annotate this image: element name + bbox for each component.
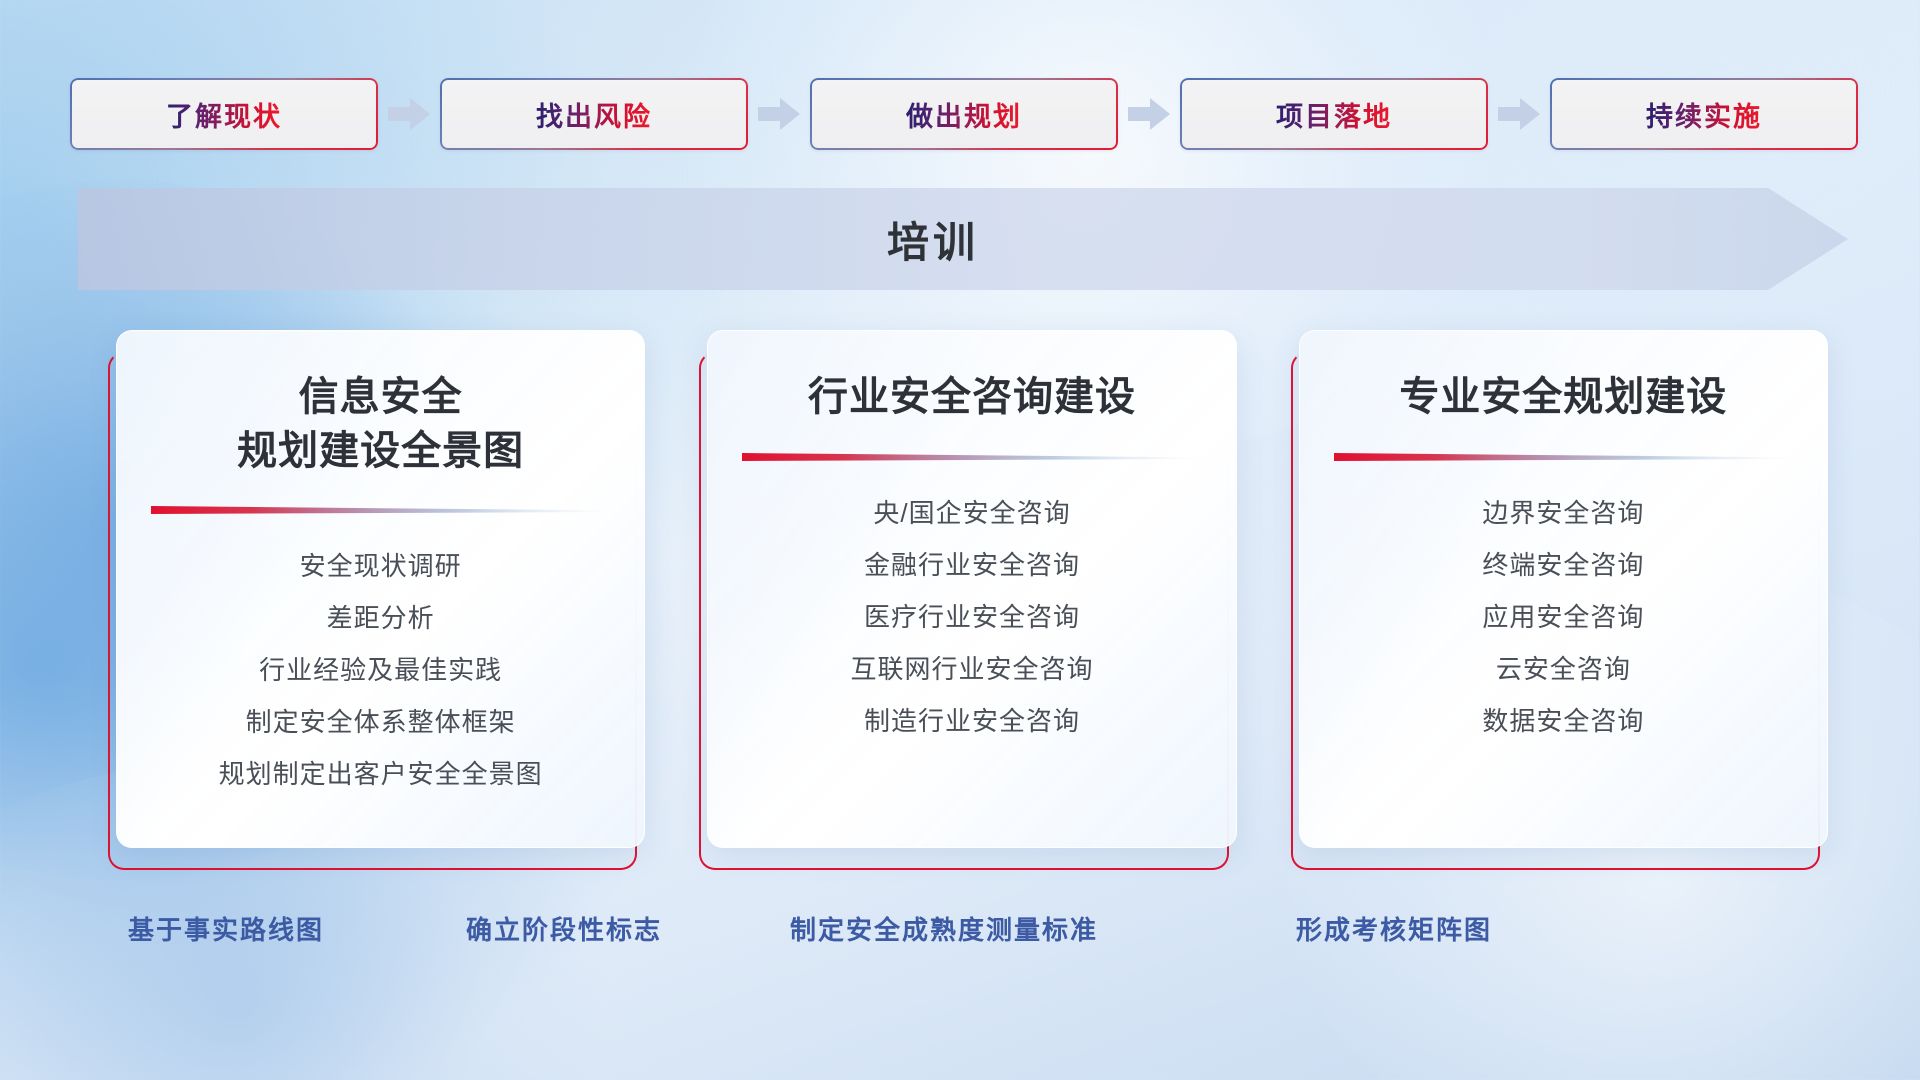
step-arrow-icon xyxy=(1118,78,1180,150)
card-title: 信息安全 规划建设全景图 xyxy=(237,371,524,478)
tapered-gradient-line xyxy=(151,504,610,518)
process-step-5[interactable]: 持续实施 xyxy=(1550,78,1858,150)
card-list-item: 医疗行业安全咨询 xyxy=(864,591,1080,643)
card-divider-rule xyxy=(151,504,610,518)
card-list-item: 制定安全体系整体框架 xyxy=(246,696,516,748)
card-list-item: 央/国企安全咨询 xyxy=(873,487,1070,539)
process-step-label: 找出风险 xyxy=(536,95,652,134)
card-list-item: 安全现状调研 xyxy=(300,540,462,592)
card-list-item: 制造行业安全咨询 xyxy=(864,695,1080,747)
card-panel[interactable]: 行业安全咨询建设央/国企安全咨询金融行业安全咨询医疗行业安全咨询互联网行业安全咨… xyxy=(707,330,1236,848)
process-step-1[interactable]: 了解现状 xyxy=(70,78,378,150)
card-list-item: 终端安全咨询 xyxy=(1482,539,1644,591)
tapered-gradient-line xyxy=(1334,451,1793,465)
card-1: 信息安全 规划建设全景图安全现状调研差距分析行业经验及最佳实践制定安全体系整体框… xyxy=(108,330,637,870)
process-step-label: 做出规划 xyxy=(906,95,1022,134)
card-title: 专业安全规划建设 xyxy=(1399,371,1727,425)
training-banner: 培训 xyxy=(78,188,1848,290)
chevron-right-arrow-icon xyxy=(758,97,800,131)
footer-label-2: 确立阶段性标志 xyxy=(466,910,662,947)
card-list-item: 金融行业安全咨询 xyxy=(864,539,1080,591)
card-divider-rule xyxy=(742,451,1201,465)
card-list-item: 应用安全咨询 xyxy=(1482,591,1644,643)
card-divider-rule xyxy=(1334,451,1793,465)
card-list-item: 规划制定出客户安全全景图 xyxy=(219,748,543,800)
card-panel[interactable]: 信息安全 规划建设全景图安全现状调研差距分析行业经验及最佳实践制定安全体系整体框… xyxy=(116,330,645,848)
footer-label-1: 基于事实路线图 xyxy=(128,910,324,947)
card-list-item: 数据安全咨询 xyxy=(1482,695,1644,747)
footer-label-3: 制定安全成熟度测量标准 xyxy=(790,910,1098,947)
process-step-flow: 了解现状找出风险做出规划项目落地持续实施 xyxy=(70,78,1858,150)
process-step-2[interactable]: 找出风险 xyxy=(440,78,748,150)
card-item-list: 边界安全咨询终端安全咨询应用安全咨询云安全咨询数据安全咨询 xyxy=(1334,487,1793,747)
chevron-right-arrow-icon xyxy=(388,97,430,131)
step-arrow-icon xyxy=(748,78,810,150)
card-list-item: 差距分析 xyxy=(327,592,435,644)
footer-label-row: 基于事实路线图确立阶段性标志制定安全成熟度测量标准形成考核矩阵图 xyxy=(0,910,1920,960)
chevron-right-arrow-icon xyxy=(1498,97,1540,131)
card-panel[interactable]: 专业安全规划建设边界安全咨询终端安全咨询应用安全咨询云安全咨询数据安全咨询 xyxy=(1299,330,1828,848)
card-2: 行业安全咨询建设央/国企安全咨询金融行业安全咨询医疗行业安全咨询互联网行业安全咨… xyxy=(699,330,1228,870)
step-arrow-icon xyxy=(378,78,440,150)
footer-label-4: 形成考核矩阵图 xyxy=(1296,910,1492,947)
process-step-label: 项目落地 xyxy=(1276,95,1392,134)
card-row: 信息安全 规划建设全景图安全现状调研差距分析行业经验及最佳实践制定安全体系整体框… xyxy=(108,330,1820,890)
card-item-list: 安全现状调研差距分析行业经验及最佳实践制定安全体系整体框架规划制定出客户安全全景… xyxy=(151,540,610,800)
card-title: 行业安全咨询建设 xyxy=(808,371,1136,425)
card-list-item: 云安全咨询 xyxy=(1496,643,1631,695)
card-3: 专业安全规划建设边界安全咨询终端安全咨询应用安全咨询云安全咨询数据安全咨询 xyxy=(1291,330,1820,870)
process-step-label: 持续实施 xyxy=(1646,95,1762,134)
tapered-gradient-line xyxy=(742,451,1201,465)
card-list-item: 边界安全咨询 xyxy=(1482,487,1644,539)
process-step-4[interactable]: 项目落地 xyxy=(1180,78,1488,150)
process-step-3[interactable]: 做出规划 xyxy=(810,78,1118,150)
card-item-list: 央/国企安全咨询金融行业安全咨询医疗行业安全咨询互联网行业安全咨询制造行业安全咨… xyxy=(742,487,1201,747)
process-step-label: 了解现状 xyxy=(166,95,282,134)
banner-label: 培训 xyxy=(78,188,1848,290)
step-arrow-icon xyxy=(1488,78,1550,150)
chevron-right-arrow-icon xyxy=(1128,97,1170,131)
card-list-item: 互联网行业安全咨询 xyxy=(850,643,1093,695)
card-list-item: 行业经验及最佳实践 xyxy=(259,644,502,696)
